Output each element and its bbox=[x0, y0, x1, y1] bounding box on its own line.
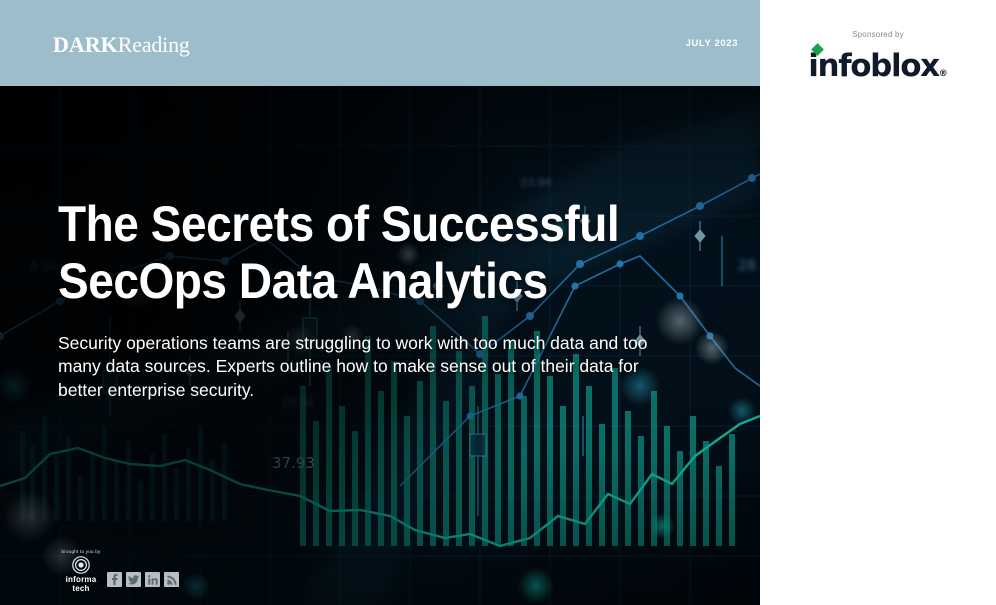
rss-icon[interactable] bbox=[164, 572, 179, 587]
hero-title-line-2: SecOps Data Analytics bbox=[58, 253, 548, 309]
masthead-band: DARKReading JULY 2023 bbox=[0, 0, 760, 86]
informa-tech-logo: brought to you by informa tech bbox=[53, 550, 109, 593]
brand-light: Reading bbox=[118, 32, 190, 57]
linkedin-icon[interactable] bbox=[145, 572, 160, 587]
svg-text:28: 28 bbox=[738, 258, 756, 274]
svg-text:37.93: 37.93 bbox=[272, 454, 315, 472]
social-links bbox=[107, 572, 179, 587]
informa-name-line-2: tech bbox=[72, 584, 89, 593]
hero-title-line-1: The Secrets of Successful bbox=[58, 196, 619, 252]
informa-wordmark: informa tech bbox=[53, 576, 109, 593]
sponsored-by-label: Sponsored by bbox=[760, 30, 996, 39]
registered-trademark-icon: ® bbox=[939, 69, 948, 79]
facebook-icon[interactable] bbox=[107, 572, 122, 587]
hero-deck: Security operations teams are struggling… bbox=[58, 332, 668, 402]
svg-text:8.34: 8.34 bbox=[30, 260, 57, 274]
infoblox-wordmark: infoblox® bbox=[808, 51, 947, 82]
sponsor-block: Sponsored by infoblox® bbox=[760, 30, 996, 82]
brand-bold: DARK bbox=[53, 32, 118, 57]
hero-copy: The Secrets of Successful SecOps Data An… bbox=[58, 196, 688, 402]
hero-image: 8.34 23.9 23.94 23.94 28 37.93 The Secre… bbox=[0, 86, 760, 605]
infoblox-word-text: infoblox bbox=[808, 48, 938, 84]
informa-kicker: brought to you by bbox=[46, 549, 116, 554]
svg-text:23.94: 23.94 bbox=[520, 176, 552, 189]
issue-date: JULY 2023 bbox=[686, 38, 738, 49]
twitter-icon[interactable] bbox=[126, 572, 141, 587]
dark-reading-logo[interactable]: DARKReading bbox=[53, 32, 190, 58]
cover-right-column: Sponsored by infoblox® INSIDE: The Secre… bbox=[760, 0, 996, 605]
informa-spiral-icon bbox=[72, 556, 90, 574]
infoblox-logo[interactable]: infoblox® bbox=[808, 51, 947, 82]
page-title: The Secrets of Successful SecOps Data An… bbox=[58, 196, 638, 310]
cover-left-column: DARKReading JULY 2023 bbox=[0, 0, 760, 605]
newsletter-cover: DARKReading JULY 2023 bbox=[0, 0, 996, 605]
